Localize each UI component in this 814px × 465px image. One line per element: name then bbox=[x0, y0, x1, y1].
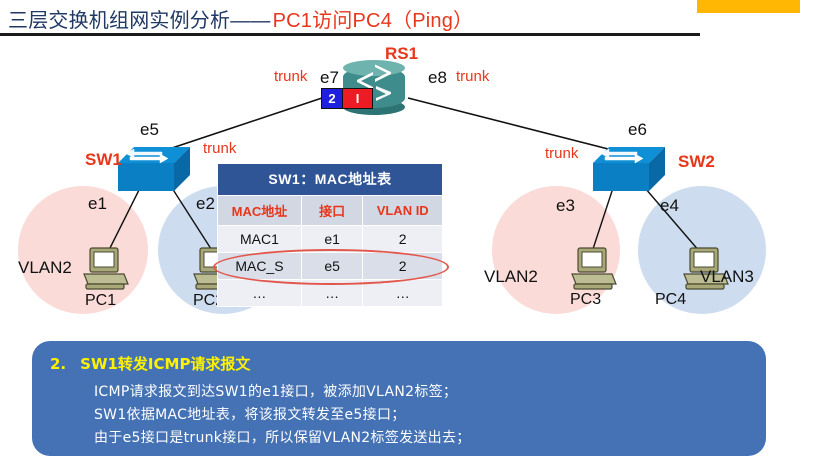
switch-sw1-icon[interactable] bbox=[118, 143, 190, 195]
orange-accent-tab bbox=[697, 0, 800, 13]
host-label-pc3: PC3 bbox=[570, 291, 601, 309]
vlan-label-vlan2-right: VLAN2 bbox=[484, 267, 538, 287]
port-label-e7: e7 bbox=[320, 68, 339, 88]
host-label-pc4: PC4 bbox=[655, 291, 686, 309]
switch-label-sw2: SW2 bbox=[678, 152, 715, 172]
pc3-icon[interactable] bbox=[568, 246, 620, 292]
link-label-trunk-e8: trunk bbox=[456, 68, 489, 85]
vlan-label-vlan2-left: VLAN2 bbox=[18, 258, 72, 278]
mac-table-title: SW1：MAC地址表 bbox=[218, 164, 443, 196]
port-label-e4: e4 bbox=[660, 196, 679, 216]
note-heading: 2.SW1转发ICMP请求报文 bbox=[50, 353, 250, 374]
mac-table-header-row: MAC地址 接口 VLAN ID bbox=[218, 196, 443, 226]
page-title-sub: PC1访问PC4（Ping） bbox=[273, 10, 474, 32]
switch-label-sw1: SW1 bbox=[85, 150, 122, 170]
port-label-e1: e1 bbox=[88, 194, 107, 214]
port-label-e2: e2 bbox=[196, 194, 215, 214]
title-divider bbox=[0, 33, 700, 36]
mac-table-title-row: SW1：MAC地址表 bbox=[218, 164, 443, 196]
mac-table-col-mac: MAC地址 bbox=[218, 196, 302, 226]
note-heading-text: SW1转发ICMP请求报文 bbox=[80, 355, 250, 373]
explanation-note-box: 2.SW1转发ICMP请求报文 ICMP请求报文到达SW1的e1接口，被添加VL… bbox=[32, 341, 766, 456]
note-number: 2. bbox=[50, 355, 66, 373]
vlan-label-vlan3-right: VLAN3 bbox=[700, 267, 754, 287]
packet-tag-payload: I bbox=[342, 89, 372, 108]
router-label-rs1: RS1 bbox=[385, 44, 418, 64]
note-line-1: ICMP请求报文到达SW1的e1接口，被添加VLAN2标签； bbox=[94, 381, 457, 401]
mac-address-table: SW1：MAC地址表 MAC地址 接口 VLAN ID MAC1 e1 2 MA… bbox=[217, 163, 443, 307]
host-label-pc1: PC1 bbox=[85, 292, 116, 310]
pc1-icon[interactable] bbox=[80, 246, 132, 292]
mac-table-col-port: 接口 bbox=[301, 196, 363, 226]
page-title-main: 三层交换机组网实例分析—— bbox=[8, 10, 271, 32]
mac-table-col-vlan: VLAN ID bbox=[363, 196, 443, 226]
packet-tag-vlan-id: 2 bbox=[322, 89, 342, 108]
link-label-trunk-sw1: trunk bbox=[203, 140, 236, 157]
port-label-e3: e3 bbox=[556, 196, 575, 216]
link-label-trunk-e7: trunk bbox=[274, 68, 307, 85]
note-line-2: SW1依据MAC地址表，将该报文转发至e5接口； bbox=[94, 404, 406, 424]
port-label-e6: e6 bbox=[628, 120, 647, 140]
port-label-e5: e5 bbox=[140, 120, 159, 140]
port-label-e8: e8 bbox=[428, 68, 447, 88]
link-label-trunk-sw2: trunk bbox=[545, 145, 578, 162]
switch-sw2-icon[interactable] bbox=[593, 143, 665, 195]
mac-table-row-highlight-ellipse bbox=[213, 249, 449, 285]
note-line-3: 由于e5接口是trunk接口，所以保留VLAN2标签发送出去； bbox=[94, 427, 471, 447]
mac-cell: MAC1 bbox=[218, 226, 302, 253]
vlan-cell: 2 bbox=[363, 226, 443, 253]
packet-tag-vlan2-icmp: 2 I bbox=[321, 88, 373, 109]
page-title: 三层交换机组网实例分析——PC1访问PC4（Ping） bbox=[8, 4, 473, 33]
